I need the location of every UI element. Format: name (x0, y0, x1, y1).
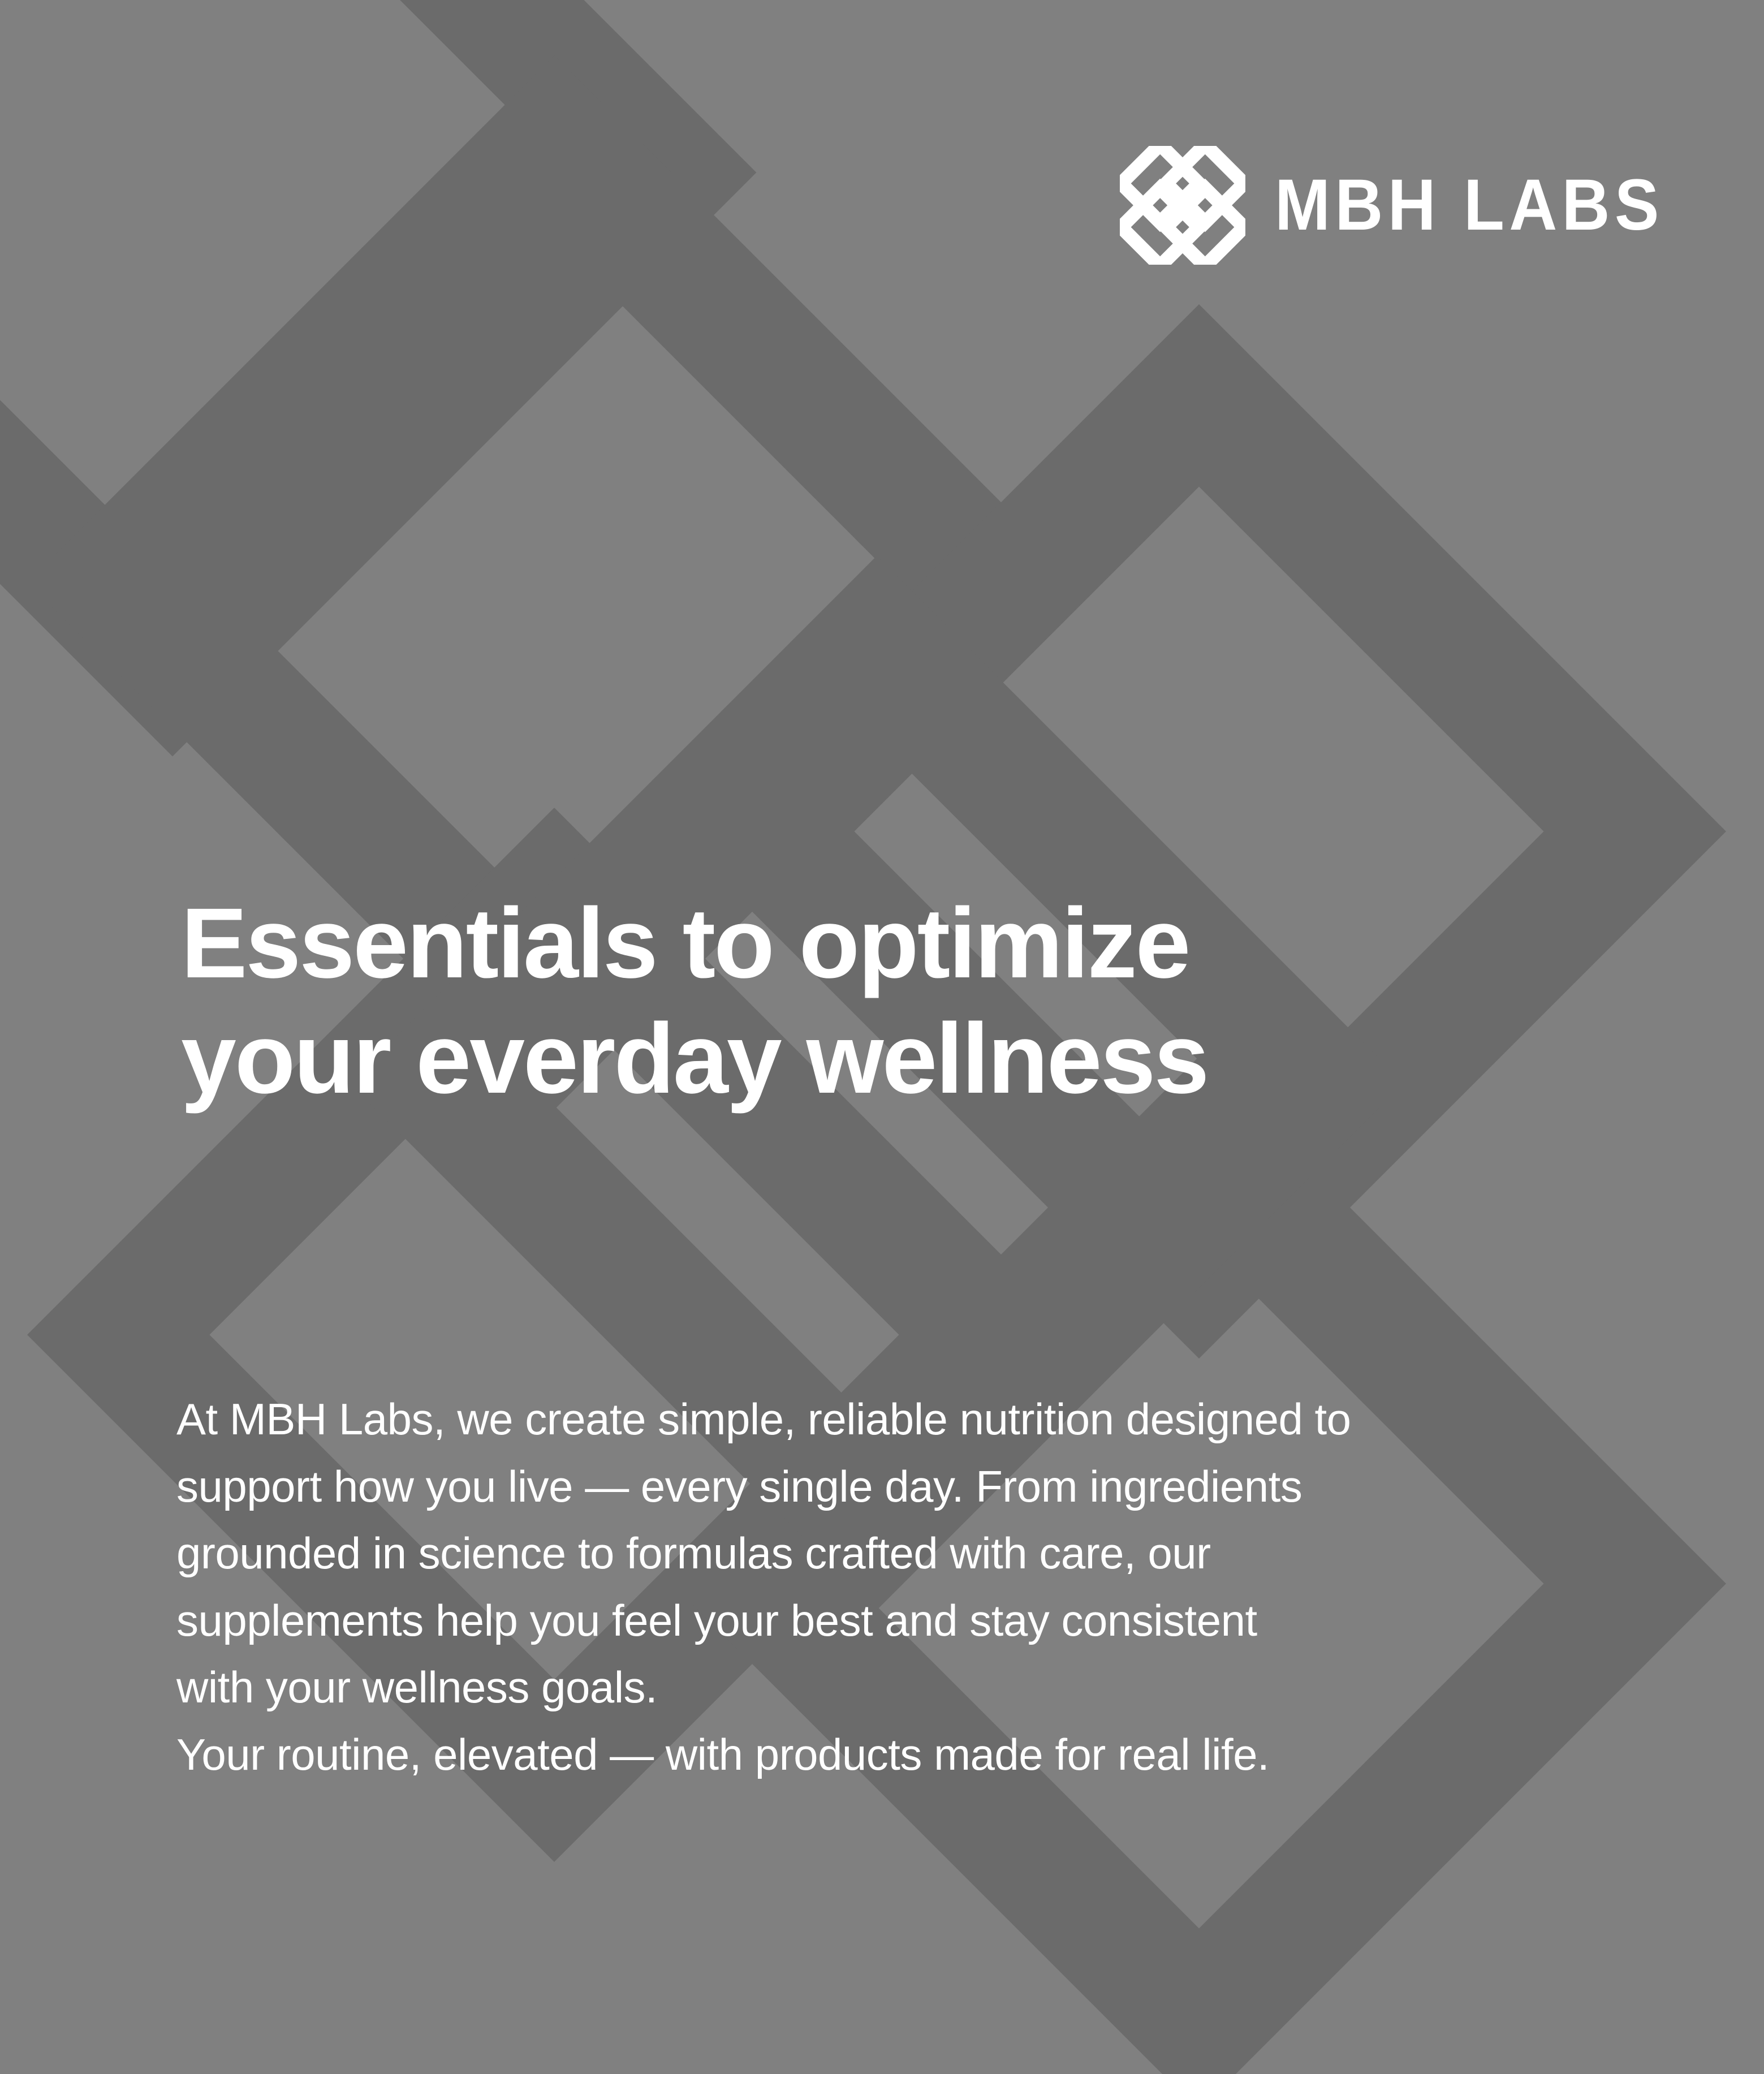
body-paragraph: At MBH Labs, we create simple, reliable … (176, 1386, 1602, 1788)
page-title: Essentials to optimize your everday well… (181, 886, 1482, 1116)
mbh-labs-knot-icon (1120, 146, 1245, 265)
brand-lockup: MBH LABS (1120, 146, 1698, 265)
poster-canvas: MBH LABS Essentials to optimize your eve… (0, 0, 1764, 2074)
brand-wordmark: MBH LABS (1275, 169, 1664, 242)
